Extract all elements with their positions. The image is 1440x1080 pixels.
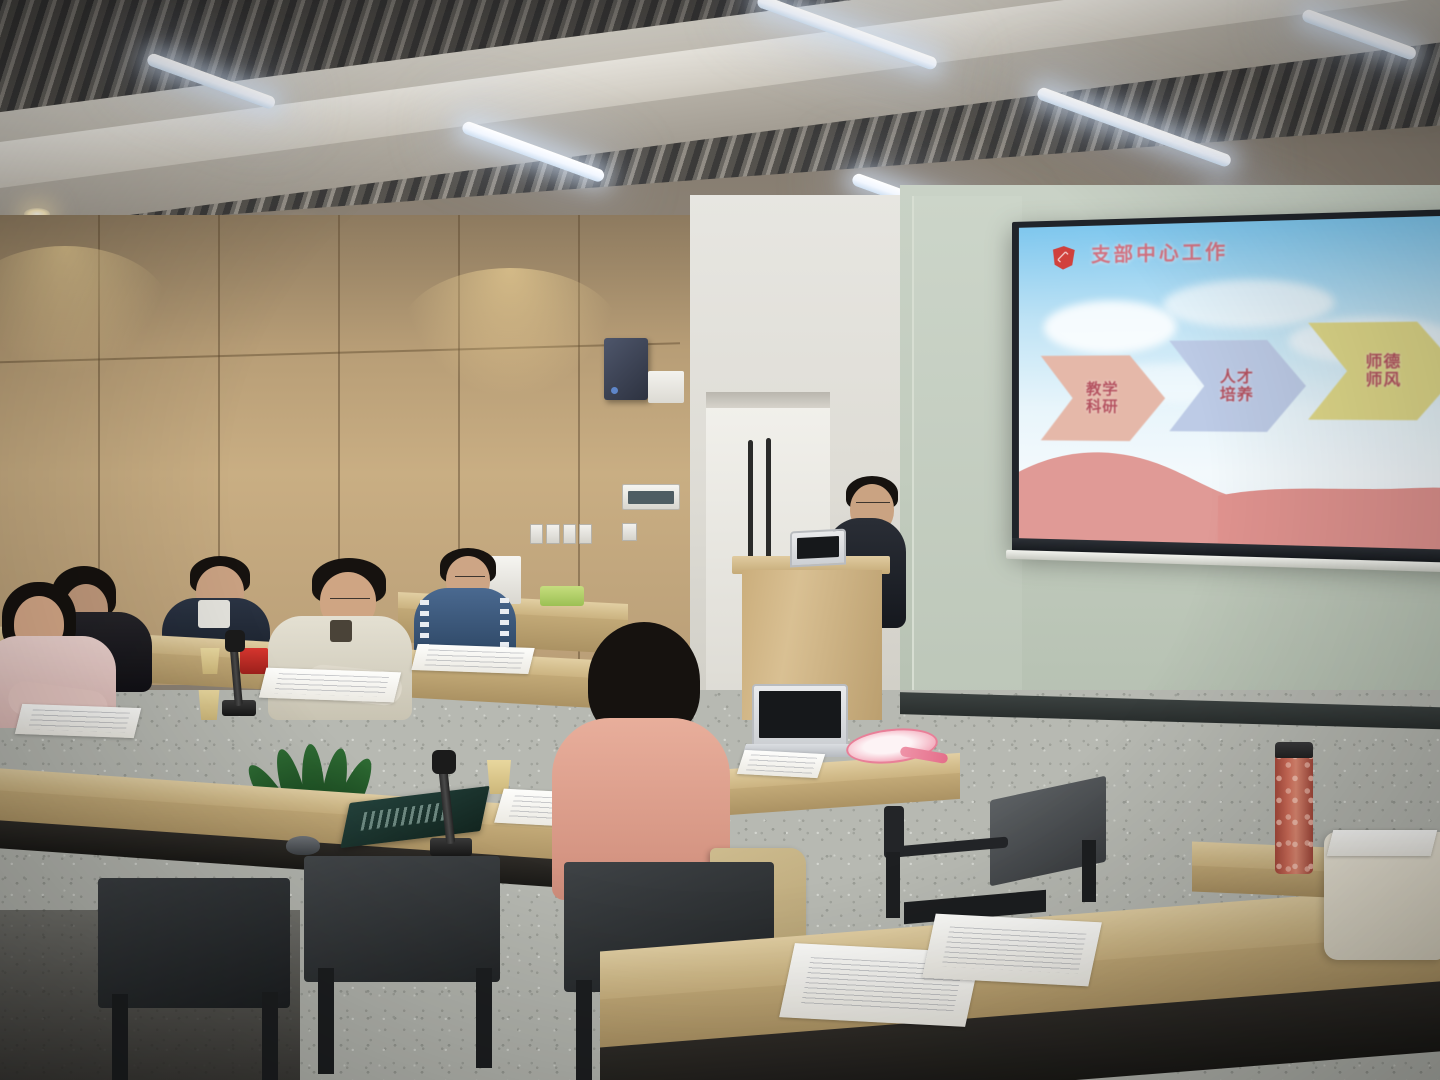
presenter-laptop[interactable] bbox=[790, 529, 846, 568]
chevron-1-label: 教学 科研 bbox=[1086, 381, 1119, 416]
party-emblem-icon bbox=[1047, 242, 1081, 273]
wall-box bbox=[648, 371, 684, 403]
shirt-collar bbox=[198, 600, 230, 628]
collar bbox=[330, 620, 352, 642]
chevron-3-label: 师德 师风 bbox=[1366, 353, 1402, 390]
projection-screen: 支部中心工作 教学 科研 人才 培养 师德 师风 bbox=[1012, 209, 1440, 566]
paper-sheet bbox=[1327, 830, 1437, 856]
counter-green-item bbox=[540, 586, 584, 606]
chevron-1: 教学 科研 bbox=[1041, 355, 1165, 441]
chevron-2-label: 人才 培养 bbox=[1220, 368, 1254, 404]
computer-mouse[interactable] bbox=[286, 836, 320, 855]
thermos-cap bbox=[1275, 742, 1313, 758]
wall-speaker-icon bbox=[604, 338, 648, 400]
door-handle-icon[interactable] bbox=[766, 438, 771, 568]
paper-sheet bbox=[922, 914, 1102, 987]
ac-control-panel[interactable] bbox=[622, 484, 680, 510]
mountain-graphic bbox=[1019, 433, 1440, 551]
wall-light-glow bbox=[400, 268, 620, 398]
slide-title: 支部中心工作 bbox=[1091, 236, 1228, 267]
audience-laptop[interactable] bbox=[752, 684, 848, 746]
red-cup bbox=[240, 648, 268, 674]
green-wall-panel bbox=[912, 196, 1022, 736]
presentation-slide: 支部中心工作 教学 科研 人才 培养 师德 师风 bbox=[1019, 215, 1440, 550]
paper-sheet bbox=[15, 704, 141, 738]
door-handle-icon[interactable] bbox=[748, 440, 753, 568]
paper-sheet bbox=[411, 644, 534, 674]
paper-sheet bbox=[737, 750, 825, 778]
paper-sheet bbox=[259, 668, 401, 703]
chevron-2: 人才 培养 bbox=[1169, 340, 1306, 433]
meeting-room-photo: 支部中心工作 教学 科研 人才 培养 师德 师风 bbox=[0, 0, 1440, 1080]
thermos-bottle bbox=[1275, 752, 1313, 874]
door-header bbox=[706, 392, 830, 408]
light-switches[interactable] bbox=[530, 524, 592, 544]
chevron-3: 师德 师风 bbox=[1308, 321, 1440, 420]
wall-switch[interactable] bbox=[622, 523, 637, 541]
